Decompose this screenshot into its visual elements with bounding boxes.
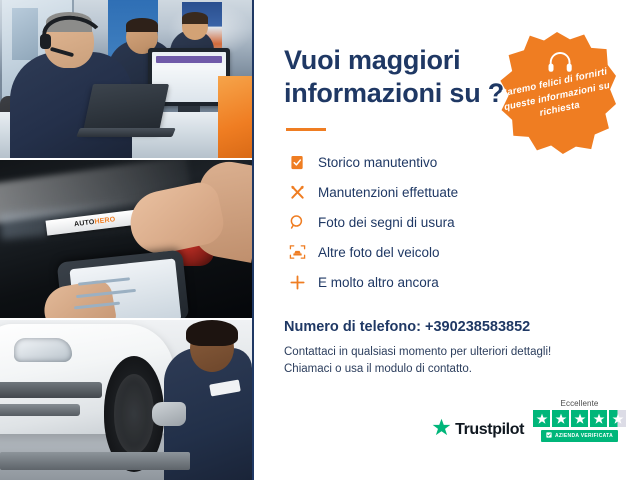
phone-number[interactable]: +390238583852 bbox=[425, 319, 530, 335]
list-item: Altre foto del veicolo bbox=[284, 237, 618, 267]
star-half-icon bbox=[609, 410, 626, 427]
feature-list: Storico manutentivo Manutenzioni effettu… bbox=[284, 147, 618, 297]
contact-paragraph-line-1: Contattaci in qualsiasi momento per ulte… bbox=[284, 344, 618, 361]
star-icon bbox=[571, 410, 588, 427]
accent-divider bbox=[286, 128, 326, 131]
contact-paragraph-line-2: Chiamaci o usa il modulo di contatto. bbox=[284, 361, 618, 378]
star-rating bbox=[533, 410, 626, 427]
feature-label: Manutenzioni effettuate bbox=[310, 185, 458, 200]
trustpilot-name: Trustpilot bbox=[455, 421, 524, 439]
star-icon bbox=[533, 410, 550, 427]
monitor-screen-bar bbox=[156, 56, 222, 63]
checkbox-checked-icon bbox=[284, 155, 310, 170]
second-agent-hair bbox=[126, 18, 158, 32]
list-item: Manutenzioni effettuate bbox=[284, 177, 618, 207]
phone-label: Numero di telefono: bbox=[284, 319, 421, 335]
headset-earpad-shape bbox=[40, 34, 51, 49]
mechanic-glove-shape bbox=[152, 402, 186, 426]
plus-icon bbox=[284, 274, 310, 291]
feature-label: E molto altro ancora bbox=[310, 275, 439, 290]
trustpilot-logo: Trustpilot bbox=[432, 418, 524, 442]
photo-column: AUTOHERO bbox=[0, 0, 252, 480]
list-item: E molto altro ancora bbox=[284, 267, 618, 297]
crossed-tools-icon bbox=[284, 184, 310, 201]
laptop-screen-shape bbox=[83, 84, 169, 132]
verified-check-icon bbox=[546, 432, 552, 440]
third-agent-hair bbox=[182, 12, 208, 24]
photo-mechanic-wheel-check bbox=[0, 320, 252, 480]
contact-paragraph: Contattaci in qualsiasi momento per ulte… bbox=[284, 344, 618, 378]
orange-partition-shape bbox=[218, 76, 252, 158]
promo-banner: AUTOHERO Vu bbox=[0, 0, 640, 480]
rating-label: Eccellente bbox=[561, 399, 599, 408]
car-grille-shape bbox=[0, 382, 102, 398]
feature-label: Altre foto del veicolo bbox=[310, 245, 440, 260]
list-item: Foto dei segni di usura bbox=[284, 207, 618, 237]
star-icon bbox=[552, 410, 569, 427]
phone-line: Numero di telefono: +390238583852 bbox=[284, 319, 618, 335]
feature-label: Foto dei segni di usura bbox=[310, 215, 455, 230]
trustpilot-rating: Eccellente bbox=[533, 399, 626, 442]
car-lower-grille-shape bbox=[0, 404, 80, 416]
callout-badge: Saremo felici di fornirti queste informa… bbox=[498, 32, 616, 154]
verified-label: AZIENDA VERIFICATA bbox=[555, 433, 613, 439]
mechanic-hair bbox=[186, 320, 238, 346]
star-icon bbox=[590, 410, 607, 427]
car-headlight-shape bbox=[14, 338, 72, 362]
feature-label: Storico manutentivo bbox=[310, 155, 437, 170]
trustpilot-star-icon bbox=[432, 418, 451, 442]
status-badge: AZIENDA VERIFICATA bbox=[541, 430, 618, 442]
laptop-base-shape bbox=[76, 128, 176, 137]
magnifier-icon bbox=[284, 214, 310, 230]
photo-call-centre bbox=[0, 0, 252, 158]
photo-car-inspection-ruler: AUTOHERO bbox=[0, 160, 252, 318]
trustpilot-widget[interactable]: Trustpilot Eccellente bbox=[432, 399, 626, 442]
car-frame-icon bbox=[284, 244, 310, 260]
autohero-logo-text: AUTOHERO bbox=[74, 214, 117, 230]
window-pane-shape bbox=[12, 8, 38, 60]
car-lift-platform bbox=[0, 452, 190, 470]
page-title: Vuoi maggiori informazioni su ? bbox=[284, 44, 519, 110]
